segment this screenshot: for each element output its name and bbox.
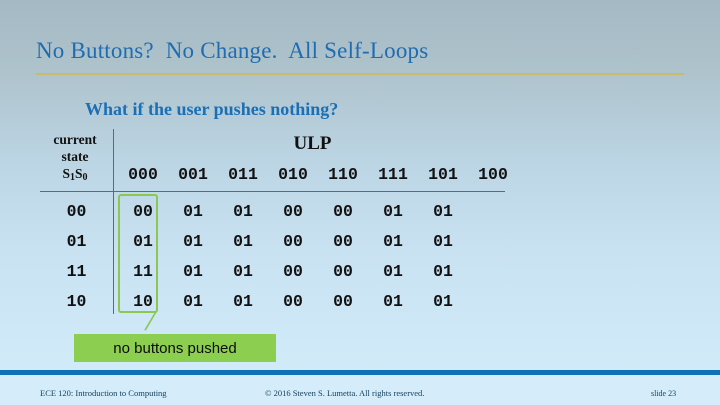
column-group-header-ulp: ULP <box>120 133 505 155</box>
table-cell: 01 <box>168 292 218 311</box>
column-header: 101 <box>418 165 468 184</box>
state-bit-s0-subscript: 0 <box>83 172 88 183</box>
table-row-header-label: current state S1S0 <box>38 131 112 186</box>
table-cell: 01 <box>368 232 418 251</box>
table-cell: 00 <box>318 232 368 251</box>
table-column-headers: 000 001 011 010 110 111 101 100 <box>118 165 518 184</box>
table-cell: 00 <box>318 202 368 221</box>
table-cell: 01 <box>218 292 268 311</box>
table-cell: 01 <box>218 202 268 221</box>
table-cell: 01 <box>368 292 418 311</box>
column-header: 100 <box>468 165 518 184</box>
table-cell: 01 <box>168 262 218 281</box>
table-cell: 01 <box>418 262 468 281</box>
table-cell: 01 <box>368 202 418 221</box>
row-header-line-state-bits: S1S0 <box>38 165 112 186</box>
highlighted-column-outline <box>118 194 158 313</box>
column-header: 011 <box>218 165 268 184</box>
table-cell: 00 <box>318 292 368 311</box>
table-body: 00 00 01 01 00 00 01 01 01 01 01 01 00 0… <box>40 196 518 316</box>
column-header: 010 <box>268 165 318 184</box>
column-header: 001 <box>168 165 218 184</box>
column-header: 110 <box>318 165 368 184</box>
table-cell: 01 <box>418 292 468 311</box>
row-header-line-state: state <box>38 148 112 165</box>
table-horizontal-rule <box>40 191 505 192</box>
table-cell: 01 <box>168 232 218 251</box>
footer-slide-number: slide 23 <box>651 389 676 398</box>
table-cell: 01 <box>168 202 218 221</box>
state-bit-s1-base: S <box>62 166 70 181</box>
callout-label: no buttons pushed <box>74 334 276 362</box>
row-state-label: 00 <box>40 202 113 221</box>
column-header: 111 <box>368 165 418 184</box>
table-cell: 01 <box>418 202 468 221</box>
table-cell: 00 <box>318 262 368 281</box>
row-state-label: 01 <box>40 232 113 251</box>
column-header: 000 <box>118 165 168 184</box>
row-header-line-current: current <box>38 131 112 148</box>
row-state-label: 10 <box>40 292 113 311</box>
table-row: 11 11 01 01 00 00 01 01 <box>40 256 518 286</box>
table-cell: 00 <box>268 202 318 221</box>
table-cell: 01 <box>218 232 268 251</box>
table-cell: 01 <box>418 232 468 251</box>
row-state-label: 11 <box>40 262 113 281</box>
footer-copyright: © 2016 Steven S. Lumetta. All rights res… <box>265 388 424 398</box>
table-cell: 00 <box>268 292 318 311</box>
table-cell: 01 <box>218 262 268 281</box>
table-cell: 00 <box>268 232 318 251</box>
table-cell: 01 <box>368 262 418 281</box>
table-row: 01 01 01 01 00 00 01 01 <box>40 226 518 256</box>
callout-no-buttons-pushed: no buttons pushed <box>74 334 276 362</box>
table-row: 10 10 01 01 00 00 01 01 <box>40 286 518 316</box>
table-row: 00 00 01 01 00 00 01 01 <box>40 196 518 226</box>
table-cell: 00 <box>268 262 318 281</box>
footer-course-name: ECE 120: Introduction to Computing <box>40 388 167 398</box>
state-bit-s0-base: S <box>75 166 83 181</box>
